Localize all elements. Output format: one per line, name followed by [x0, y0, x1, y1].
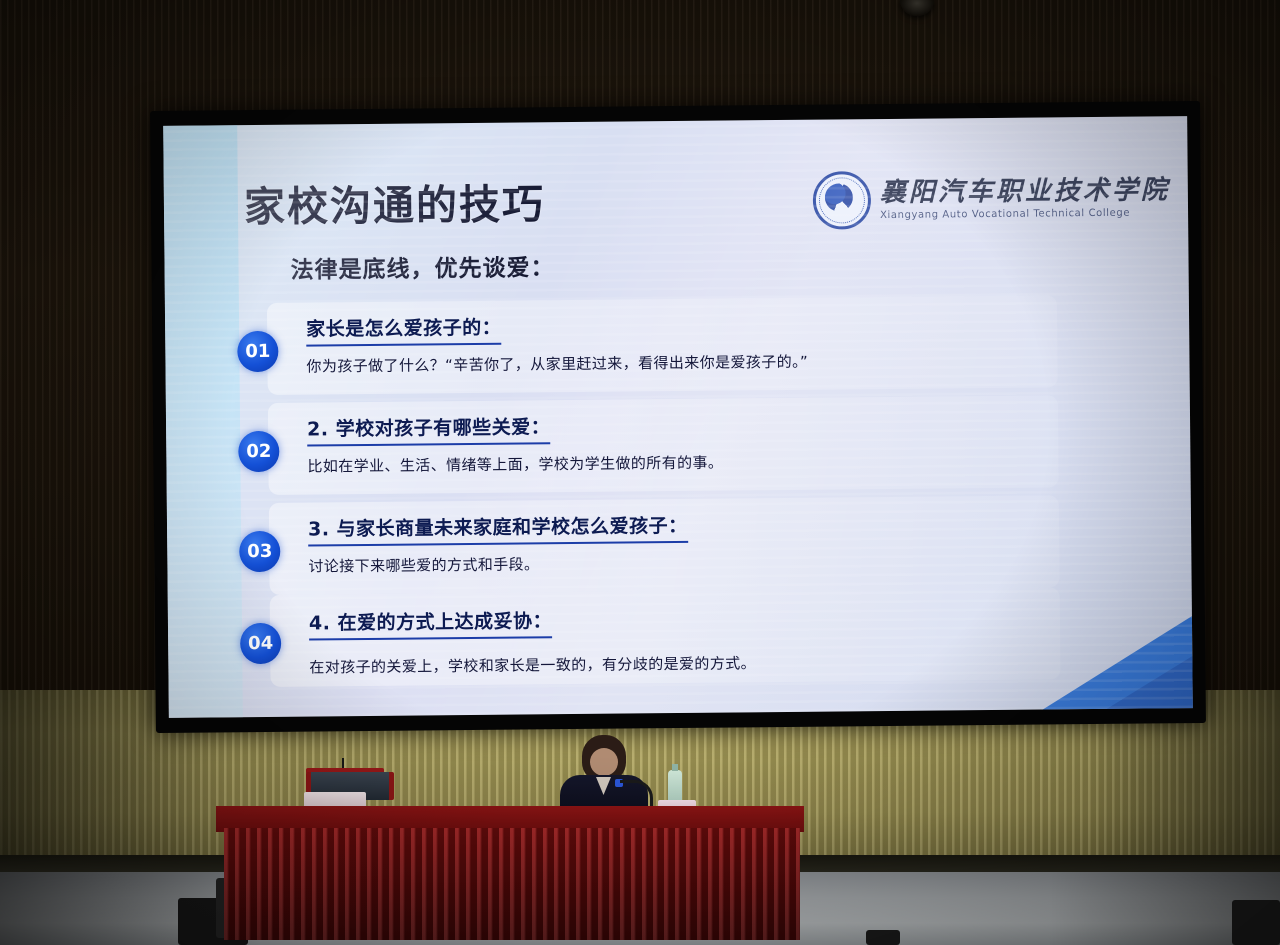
stage-speaker-right [1232, 900, 1280, 945]
list-item: 03 3. 与家长商量未来家庭和学校怎么爱孩子： 讨论接下来哪些爱的方式和手段。 [239, 507, 1060, 577]
list-item: 01 家长是怎么爱孩子的： 你为孩子做了什么？“辛苦你了，从家里赶过来，看得出来… [237, 307, 1058, 377]
list-item-badge: 01 [237, 331, 278, 372]
list-item-body: 3. 与家长商量未来家庭和学校怎么爱孩子： 讨论接下来哪些爱的方式和手段。 [308, 511, 688, 577]
list-item-body: 2. 学校对孩子有哪些关爱： 比如在学业、生活、情绪等上面，学校为学生做的所有的… [307, 411, 723, 477]
presentation-slide: 家校沟通的技巧 法律是底线，优先谈爱： 襄阳汽车职业技术学院 Xiangyang… [163, 116, 1193, 718]
list-item-heading: 4. 在爱的方式上达成妥协： [309, 606, 552, 640]
slide-corner-triangle-inner [1106, 656, 1192, 709]
list-item-text: 你为孩子做了什么？“辛苦你了，从家里赶过来，看得出来你是爱孩子的。” [306, 353, 808, 377]
lecture-hall-scene: 家校沟通的技巧 法律是底线，优先谈爱： 襄阳汽车职业技术学院 Xiangyang… [0, 0, 1280, 945]
slide-left-accent-band [163, 125, 243, 718]
school-emblem-icon [813, 171, 872, 230]
list-item-heading: 3. 与家长商量未来家庭和学校怎么爱孩子： [308, 511, 688, 547]
list-item-heading: 家长是怎么爱孩子的： [306, 313, 501, 347]
slide-title: 家校沟通的技巧 [244, 170, 546, 233]
school-name-cn: 襄阳汽车职业技术学院 [880, 177, 1170, 206]
list-item-body: 4. 在爱的方式上达成妥协： 在对孩子的关爱上，学校和家长是一致的，有分歧的是爱… [309, 604, 756, 678]
table-skirt [224, 828, 800, 940]
list-item-text: 讨论接下来哪些爱的方式和手段。 [308, 554, 688, 577]
list-item: 02 2. 学校对孩子有哪些关爱： 比如在学业、生活、情绪等上面，学校为学生做的… [238, 407, 1059, 477]
list-item-heading: 2. 学校对孩子有哪些关爱： [307, 412, 550, 446]
school-logo: 襄阳汽车职业技术学院 Xiangyang Auto Vocational Tec… [813, 168, 1171, 229]
school-name-en: Xiangyang Auto Vocational Technical Coll… [880, 208, 1170, 221]
school-logo-text: 襄阳汽车职业技术学院 Xiangyang Auto Vocational Tec… [880, 177, 1170, 221]
list-item-badge: 04 [240, 623, 281, 664]
list-item-badge: 02 [238, 431, 279, 472]
list-item-text: 在对孩子的关爱上，学校和家长是一致的，有分歧的是爱的方式。 [309, 654, 756, 678]
list-item-text: 比如在学业、生活、情绪等上面，学校为学生做的所有的事。 [307, 454, 723, 477]
speaker-face [590, 748, 618, 776]
slide-subtitle: 法律是底线，优先谈爱： [290, 248, 554, 285]
list-item: 04 4. 在爱的方式上达成妥协： 在对孩子的关爱上，学校和家长是一致的，有分歧… [240, 599, 1061, 678]
list-item-badge: 03 [239, 531, 280, 572]
stage-object-center [866, 930, 900, 945]
list-item-body: 家长是怎么爱孩子的： 你为孩子做了什么？“辛苦你了，从家里赶过来，看得出来你是爱… [306, 310, 808, 377]
